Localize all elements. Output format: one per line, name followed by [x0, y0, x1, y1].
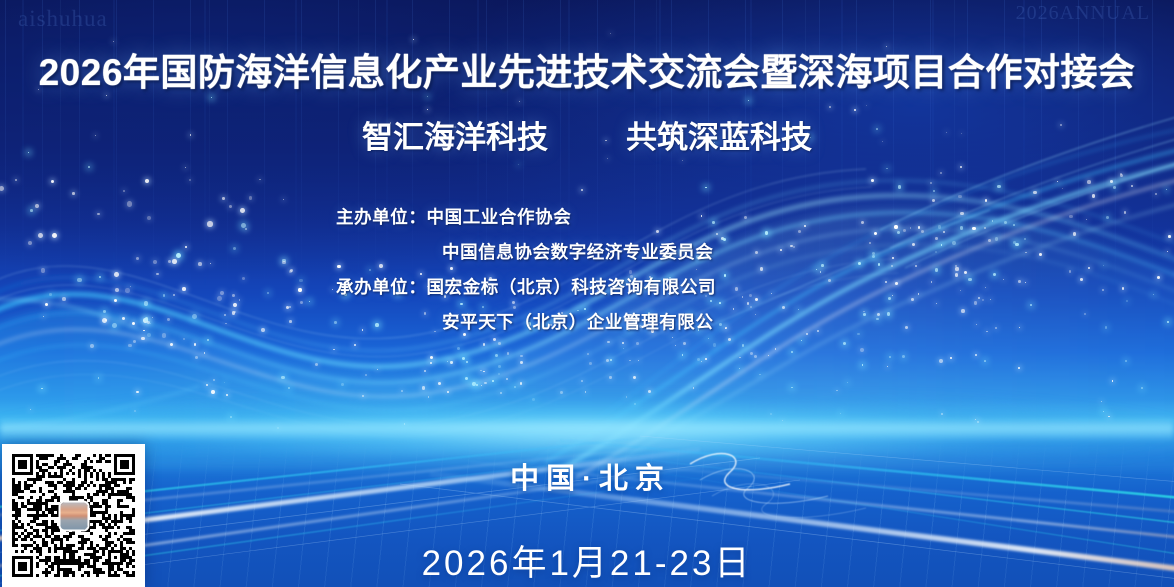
date-text: 2026年1月21-23日	[0, 535, 1174, 586]
conference-banner: aishuhua 2026ANNUAL 2026年国防海洋信息化产业先进技术交流…	[0, 0, 1174, 587]
qr-code[interactable]	[12, 454, 135, 577]
organizer-line-coorganizer-2: 安平天下（北京）企业管理有限公	[336, 305, 716, 340]
qr-code-card[interactable]	[2, 444, 145, 587]
subtitle: 智汇海洋科技共筑深蓝科技	[0, 112, 1174, 157]
subtitle-right: 共筑深蓝科技	[626, 120, 812, 155]
organizer-line-host: 主办单位：中国工业合作协会	[336, 200, 716, 235]
location-text: 中国·北京	[0, 455, 1174, 497]
main-title: 2026年国防海洋信息化产业先进技术交流会暨深海项目合作对接会	[0, 42, 1174, 96]
organizer-line-host-2: 中国信息协会数字经济专业委员会	[336, 235, 716, 270]
qr-center-logo	[58, 500, 89, 531]
qr-logo-image	[60, 502, 87, 529]
organizer-block: 主办单位：中国工业合作协会 中国信息协会数字经济专业委员会 承办单位：国宏金标（…	[336, 200, 716, 340]
organizer-line-coorganizer: 承办单位：国宏金标（北京）科技咨询有限公司	[336, 270, 716, 305]
subtitle-left: 智汇海洋科技	[362, 120, 548, 155]
banner-content: 2026年国防海洋信息化产业先进技术交流会暨深海项目合作对接会 智汇海洋科技共筑…	[0, 0, 1174, 587]
